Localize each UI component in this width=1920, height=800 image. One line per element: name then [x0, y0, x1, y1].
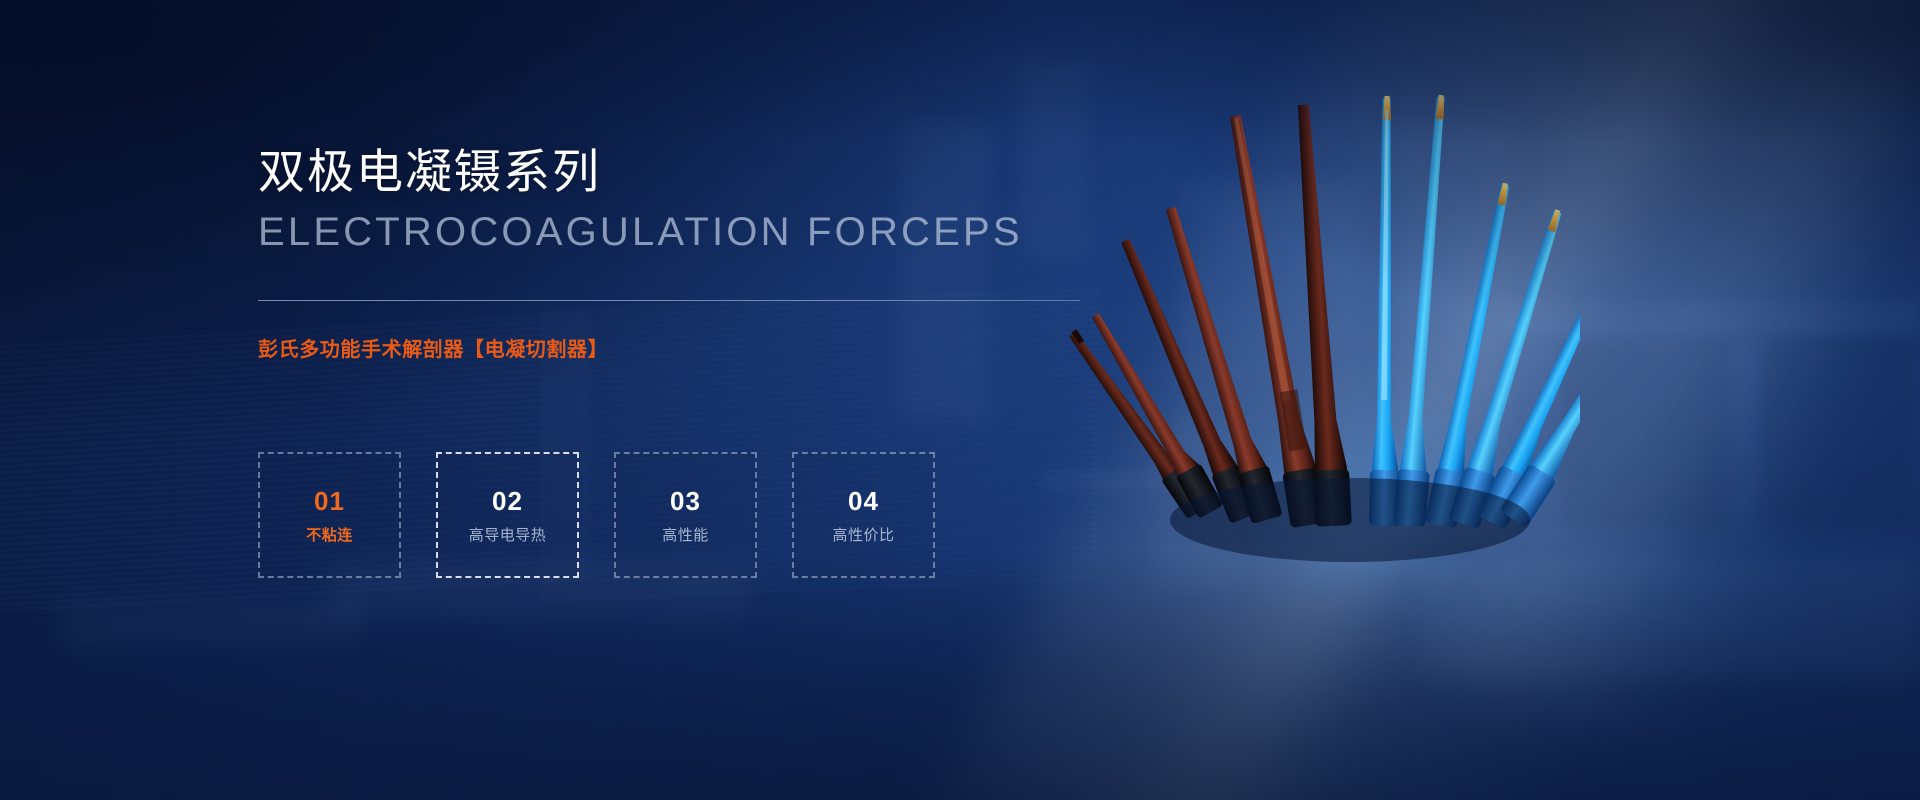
feature-label: 高性价比	[832, 528, 894, 543]
feature-number: 01	[314, 488, 345, 514]
forceps-product-image	[1020, 0, 1580, 800]
banner-content: 双极电凝镊系列 ELECTROCOAGULATION FORCEPS 彭氏多功能…	[258, 0, 958, 800]
page-title: 双极电凝镊系列	[258, 148, 601, 195]
feature-number: 04	[848, 488, 879, 514]
forceps-blue-group	[1369, 94, 1580, 529]
product-banner: 双极电凝镊系列 ELECTROCOAGULATION FORCEPS 彭氏多功能…	[0, 0, 1920, 800]
product-name-text: 彭氏多功能手术解剖器【电凝切割器】	[258, 340, 608, 360]
feature-item-03[interactable]: 03 高性能	[614, 452, 757, 578]
feature-item-02[interactable]: 02 高导电导热	[436, 452, 579, 578]
feature-item-04[interactable]: 04 高性价比	[792, 452, 935, 578]
feature-number: 02	[492, 488, 523, 514]
feature-item-01[interactable]: 01 不粘连	[258, 452, 401, 578]
feature-list: 01 不粘连 02 高导电导热 03 高性能 04 高性价比	[258, 452, 935, 578]
feature-label: 高导电导热	[469, 528, 547, 543]
page-subtitle-english: ELECTROCOAGULATION FORCEPS	[258, 212, 1023, 252]
divider-line	[258, 300, 1080, 301]
forceps-dark-group	[1065, 104, 1352, 529]
feature-label: 高性能	[662, 528, 709, 543]
feature-number: 03	[670, 488, 701, 514]
feature-label: 不粘连	[306, 528, 353, 543]
